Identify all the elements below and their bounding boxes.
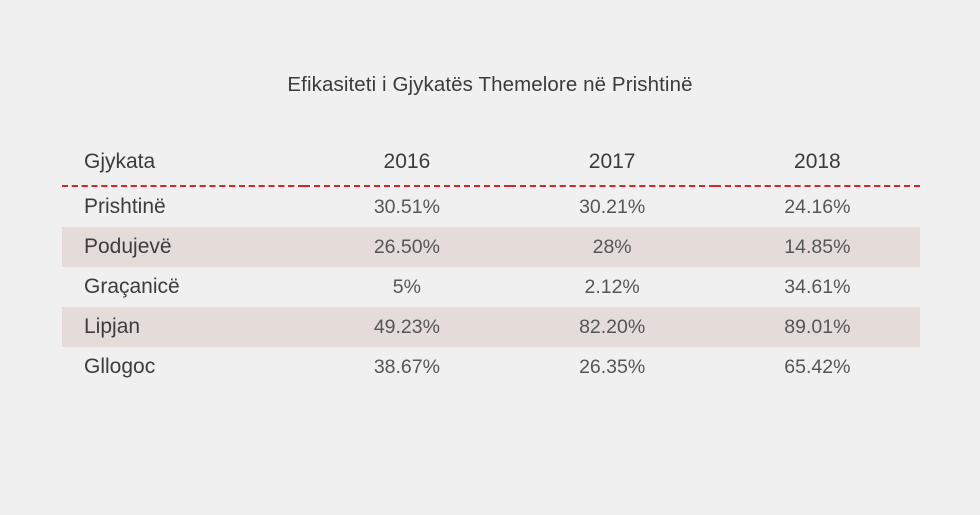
- column-header-2018: 2018: [715, 150, 920, 186]
- cell-value-2017: 30.21%: [510, 186, 715, 227]
- column-header-gjykata: Gjykata: [62, 150, 304, 186]
- efficiency-table-container: Gjykata 2016 2017 2018 Prishtinë 30.51% …: [62, 150, 920, 387]
- cell-value-2017: 82.20%: [510, 307, 715, 347]
- cell-court-name: Prishtinë: [62, 186, 304, 227]
- column-header-2016: 2016: [304, 150, 509, 186]
- cell-court-name: Gllogoc: [62, 347, 304, 387]
- cell-value-2017: 28%: [510, 227, 715, 267]
- cell-value-2016: 49.23%: [304, 307, 509, 347]
- cell-value-2016: 38.67%: [304, 347, 509, 387]
- cell-value-2018: 89.01%: [715, 307, 920, 347]
- cell-value-2018: 65.42%: [715, 347, 920, 387]
- cell-value-2016: 5%: [304, 267, 509, 307]
- slide-canvas: Efikasiteti i Gjykatës Themelore në Pris…: [0, 0, 980, 515]
- cell-court-name: Graçanicë: [62, 267, 304, 307]
- cell-value-2017: 26.35%: [510, 347, 715, 387]
- table-header-row: Gjykata 2016 2017 2018: [62, 150, 920, 186]
- table-row: Podujevë 26.50% 28% 14.85%: [62, 227, 920, 267]
- efficiency-table: Gjykata 2016 2017 2018 Prishtinë 30.51% …: [62, 150, 920, 387]
- table-row: Gllogoc 38.67% 26.35% 65.42%: [62, 347, 920, 387]
- table-header: Gjykata 2016 2017 2018: [62, 150, 920, 186]
- table-row: Graçanicë 5% 2.12% 34.61%: [62, 267, 920, 307]
- cell-value-2017: 2.12%: [510, 267, 715, 307]
- page-title: Efikasiteti i Gjykatës Themelore në Pris…: [0, 73, 980, 97]
- table-body: Prishtinë 30.51% 30.21% 24.16% Podujevë …: [62, 186, 920, 387]
- cell-court-name: Lipjan: [62, 307, 304, 347]
- cell-value-2018: 14.85%: [715, 227, 920, 267]
- column-header-2017: 2017: [510, 150, 715, 186]
- cell-value-2018: 34.61%: [715, 267, 920, 307]
- cell-court-name: Podujevë: [62, 227, 304, 267]
- table-row: Lipjan 49.23% 82.20% 89.01%: [62, 307, 920, 347]
- table-row: Prishtinë 30.51% 30.21% 24.16%: [62, 186, 920, 227]
- cell-value-2016: 30.51%: [304, 186, 509, 227]
- cell-value-2018: 24.16%: [715, 186, 920, 227]
- cell-value-2016: 26.50%: [304, 227, 509, 267]
